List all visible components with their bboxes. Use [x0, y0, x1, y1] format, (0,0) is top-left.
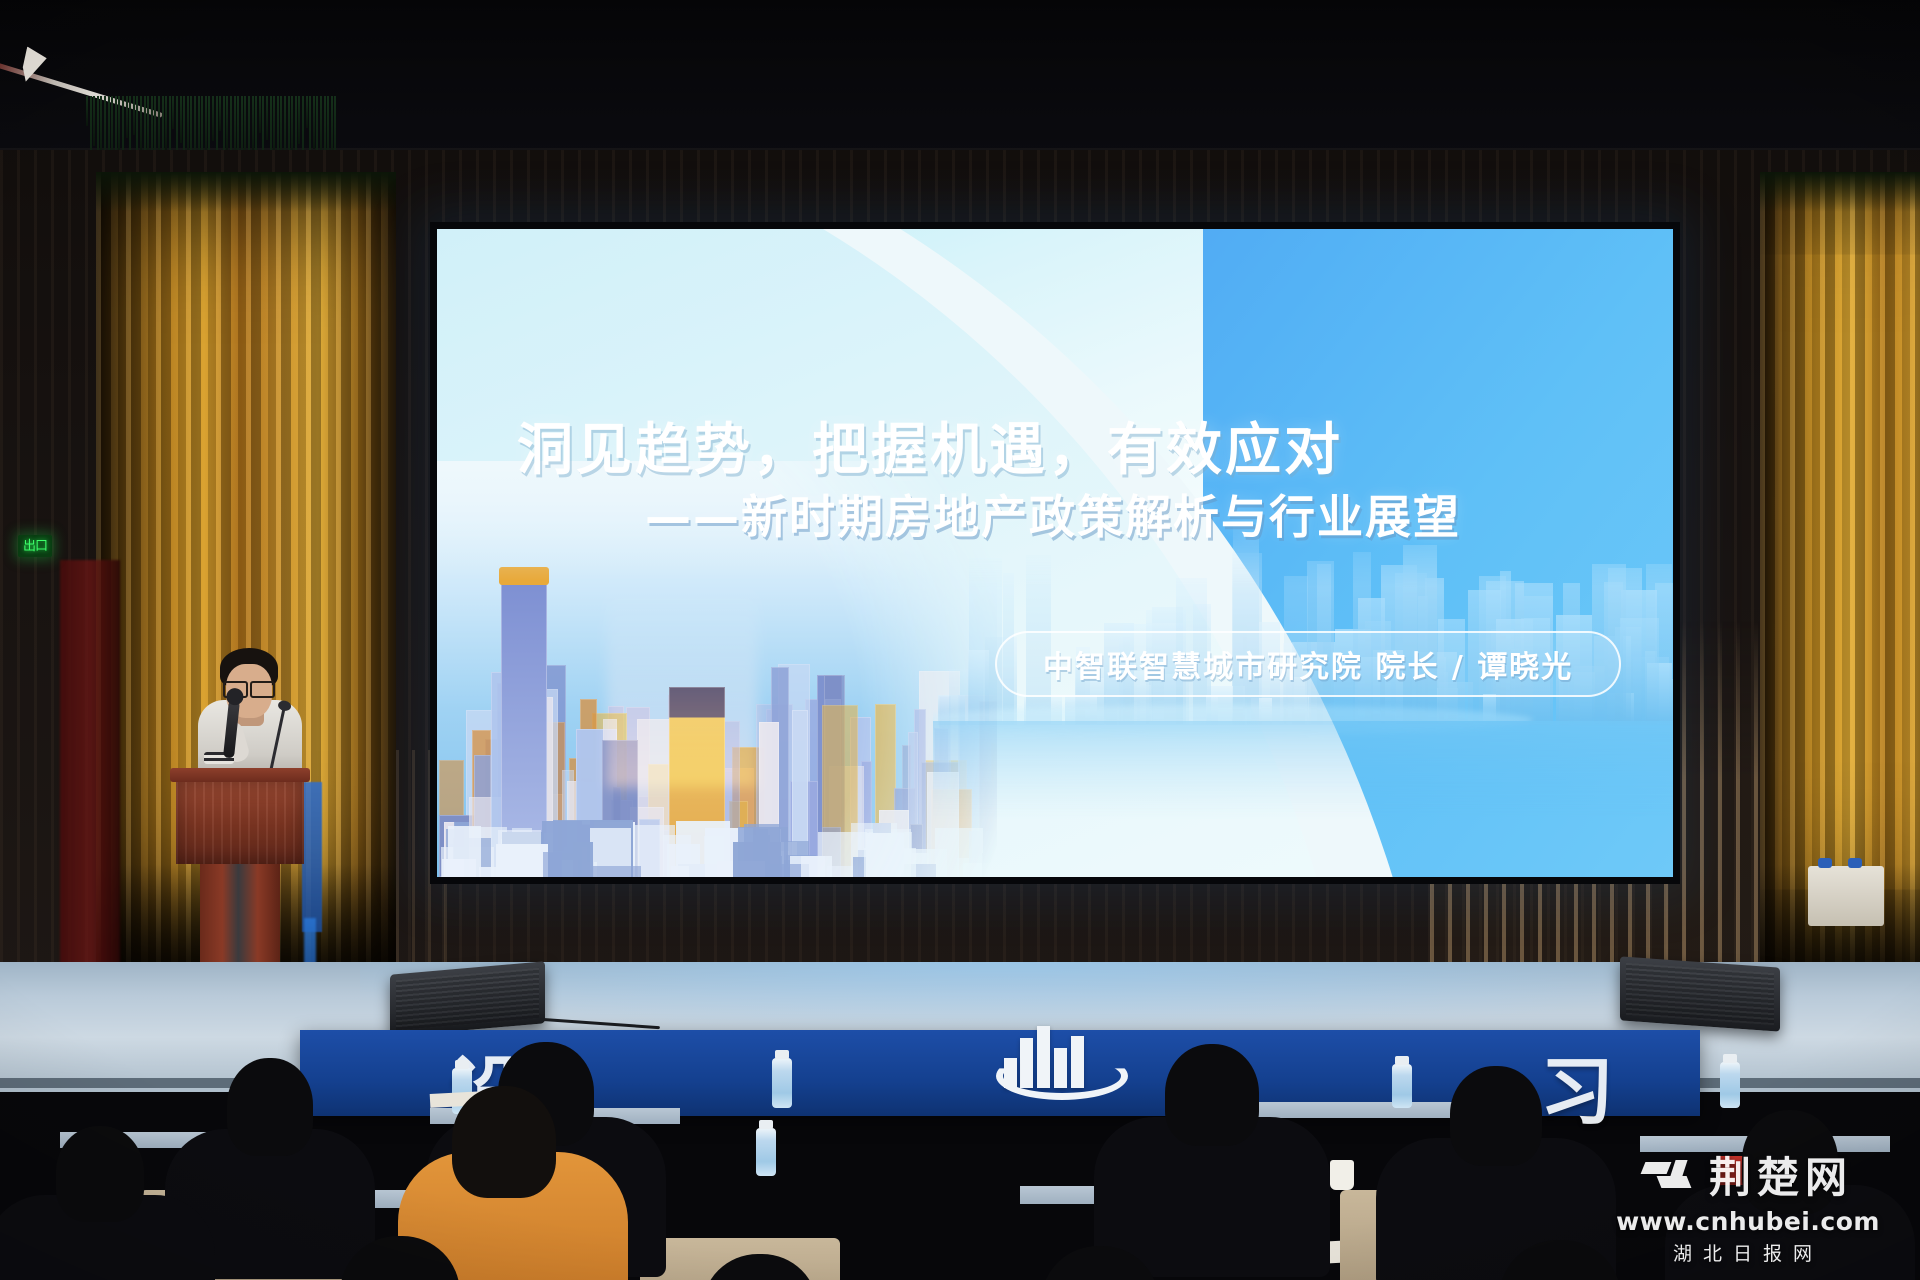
podium-top [170, 768, 310, 782]
equipment-light-2 [1848, 858, 1862, 868]
curtain-top-shadow-right [1760, 172, 1920, 212]
water-bottle [772, 1058, 792, 1108]
river-water [933, 721, 1673, 821]
watermark-subtitle: 湖北日报网 [1598, 1239, 1898, 1266]
podium-side-light [302, 782, 322, 932]
water-bottle [1720, 1062, 1740, 1108]
audience-member-head [1450, 1066, 1542, 1166]
wood-grain [176, 780, 304, 864]
watermark-url: www.cnhubei.com [1598, 1207, 1898, 1236]
equipment-light-1 [1818, 858, 1832, 868]
slide-subtitle: ——新时期房地产政策解析与行业展望 [645, 481, 1673, 547]
bottle-cap [775, 1050, 789, 1059]
podium-front-panel [176, 780, 304, 864]
bottle-cap [1395, 1056, 1409, 1065]
slide-title: 洞见趋势，把握机遇，有效应对 [517, 405, 1617, 486]
watermark-row: 荆楚网 [1598, 1144, 1898, 1205]
audience-member-head [227, 1058, 313, 1156]
curtain-folds-right [1760, 172, 1920, 984]
watermark: 荆楚网 www.cnhubei.com 湖北日报网 [1598, 1144, 1898, 1266]
bottle-cap [759, 1120, 773, 1129]
exit-sign-label: 出口 [23, 540, 47, 553]
bottle-cap [1723, 1054, 1737, 1063]
side-equipment-unit [1808, 866, 1884, 926]
city-warm-glow [607, 587, 757, 787]
presenter [190, 648, 310, 778]
watermark-brand: 荆楚网 [1709, 1144, 1853, 1205]
water-bottle [1392, 1064, 1412, 1108]
speaker-credit-text: 中智联智慧城市研究院 院长 / 谭晓光 [1043, 642, 1573, 686]
paper-cup [1330, 1160, 1354, 1190]
curtain-top-shadow-left [96, 172, 396, 212]
audience-member-orange-coat-head [452, 1086, 556, 1198]
monitor-grill [1626, 963, 1774, 1025]
water-bottle [756, 1128, 776, 1176]
stage-monitor-right [1620, 956, 1780, 1031]
photo-scene: 出口 洞见趋势，把握机遇，有效应对 ——新时期房地产政策解析与行业展望 [0, 0, 1920, 1280]
speaker-credit-pill: 中智联智慧城市研究院 院长 / 谭晓光 [995, 631, 1621, 697]
led-screen: 洞见趋势，把握机遇，有效应对 ——新时期房地产政策解析与行业展望 中智联智慧城市… [430, 222, 1680, 884]
red-side-curtain [60, 560, 120, 980]
emergency-exit-sign: 出口 [18, 535, 52, 557]
jingchu-net-logo-icon [1643, 1156, 1697, 1194]
stage-curtain-right [1760, 172, 1920, 984]
audience-member-head [56, 1126, 144, 1222]
audience-member-head [1165, 1044, 1259, 1146]
monitor-grill [396, 968, 539, 1031]
presentation-slide: 洞见趋势，把握机遇，有效应对 ——新时期房地产政策解析与行业展望 中智联智慧城市… [437, 229, 1673, 877]
bottle-cap [455, 1060, 469, 1069]
